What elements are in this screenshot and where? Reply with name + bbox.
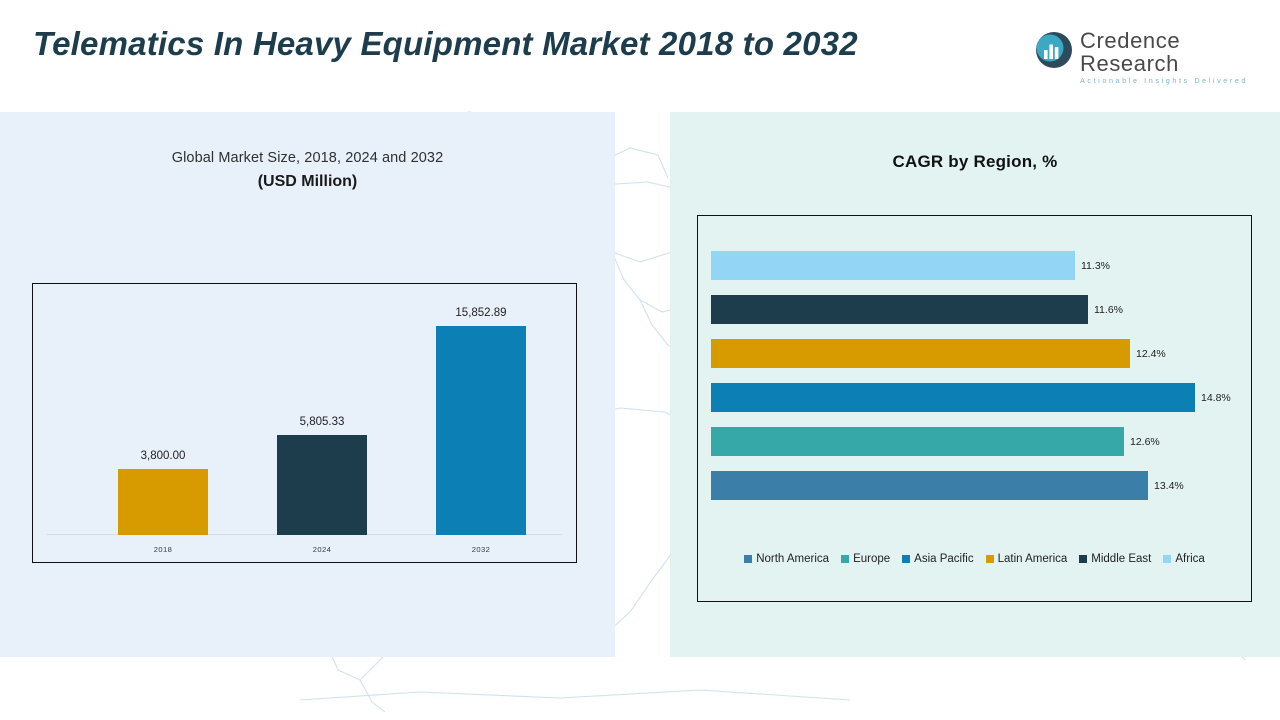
legend-item-latin-america[interactable]: Latin America — [986, 553, 1068, 565]
legend-label-asia-pacific: Asia Pacific — [914, 553, 973, 565]
legend-item-asia-pacific[interactable]: Asia Pacific — [902, 553, 973, 565]
legend-swatch-icon — [1079, 555, 1087, 563]
logo-tagline: Actionable Insights Delivered — [1080, 76, 1254, 85]
left-heading-line2: (USD Million) — [0, 173, 615, 191]
hbar-row-north-america[interactable]: 13.4% — [711, 471, 1184, 500]
hbar-africa[interactable] — [711, 251, 1075, 280]
legend-item-north-america[interactable]: North America — [744, 553, 829, 565]
cagr-by-region-chart: 11.3% 11.6% 12.4% 14.8% 12.6% 13.4% — [697, 215, 1252, 602]
bar-value-label-2032: 15,852.89 — [455, 307, 506, 319]
hbar-row-latin-america[interactable]: 12.4% — [711, 339, 1166, 368]
left-chart-heading: Global Market Size, 2018, 2024 and 2032 … — [0, 150, 615, 191]
hbar-middle-east[interactable] — [711, 295, 1088, 324]
legend-item-africa[interactable]: Africa — [1163, 553, 1204, 565]
legend-label-africa: Africa — [1175, 553, 1204, 565]
logo-text: Credence Research Actionable Insights De… — [1080, 29, 1254, 85]
legend-item-middle-east[interactable]: Middle East — [1079, 553, 1151, 565]
x-tick-2018: 2018 — [118, 545, 208, 554]
bar-2032[interactable] — [436, 326, 526, 535]
legend-swatch-icon — [902, 555, 910, 563]
legend-swatch-icon — [841, 555, 849, 563]
legend-swatch-icon — [1163, 555, 1171, 563]
hbar-row-asia-pacific[interactable]: 14.8% — [711, 383, 1231, 412]
legend-label-middle-east: Middle East — [1091, 553, 1151, 565]
legend-label-north-america: North America — [756, 553, 829, 565]
hbar-value-europe: 12.6% — [1130, 436, 1160, 448]
infographic-canvas: Telematics In Heavy Equipment Market 201… — [0, 0, 1280, 720]
bar-2024[interactable] — [277, 435, 367, 535]
logo-name: Credence Research — [1080, 29, 1254, 75]
hbar-value-asia-pacific: 14.8% — [1201, 392, 1231, 404]
hbar-value-africa: 11.3% — [1081, 260, 1110, 272]
legend-swatch-icon — [744, 555, 752, 563]
bar-column-2018[interactable]: 3,800.00 — [118, 450, 208, 535]
hbar-value-north-america: 13.4% — [1154, 480, 1184, 492]
bar-value-label-2024: 5,805.33 — [300, 416, 345, 428]
hbar-row-europe[interactable]: 12.6% — [711, 427, 1160, 456]
legend-label-europe: Europe — [853, 553, 890, 565]
chart-legend: North America Europe Asia Pacific Latin … — [698, 553, 1251, 565]
hbar-row-middle-east[interactable]: 11.6% — [711, 295, 1123, 324]
bar-chart-circle-icon — [1034, 30, 1074, 70]
x-tick-2024: 2024 — [277, 545, 367, 554]
bar-2018[interactable] — [118, 469, 208, 535]
horizontal-bar-plot: 11.3% 11.6% 12.4% 14.8% 12.6% 13.4% — [711, 242, 1241, 522]
hbar-asia-pacific[interactable] — [711, 383, 1195, 412]
right-chart-heading: CAGR by Region, % — [670, 152, 1280, 172]
bar-value-label-2018: 3,800.00 — [141, 450, 186, 462]
hbar-latin-america[interactable] — [711, 339, 1130, 368]
x-tick-2032: 2032 — [436, 545, 526, 554]
vertical-bar-plot: 3,800.00 5,805.33 15,852.89 2018 2024 20… — [33, 284, 576, 562]
hbar-value-middle-east: 11.6% — [1094, 304, 1123, 316]
legend-label-latin-america: Latin America — [998, 553, 1068, 565]
bar-column-2032[interactable]: 15,852.89 — [436, 307, 526, 535]
hbar-europe[interactable] — [711, 427, 1124, 456]
left-heading-line1: Global Market Size, 2018, 2024 and 2032 — [0, 150, 615, 166]
legend-swatch-icon — [986, 555, 994, 563]
hbar-row-africa[interactable]: 11.3% — [711, 251, 1110, 280]
bar-column-2024[interactable]: 5,805.33 — [277, 416, 367, 535]
brand-logo[interactable]: Credence Research Actionable Insights De… — [1034, 28, 1254, 76]
hbar-north-america[interactable] — [711, 471, 1148, 500]
legend-item-europe[interactable]: Europe — [841, 553, 890, 565]
global-market-size-chart: 3,800.00 5,805.33 15,852.89 2018 2024 20… — [32, 283, 577, 563]
hbar-value-latin-america: 12.4% — [1136, 348, 1166, 360]
page-title: Telematics In Heavy Equipment Market 201… — [33, 22, 1003, 66]
